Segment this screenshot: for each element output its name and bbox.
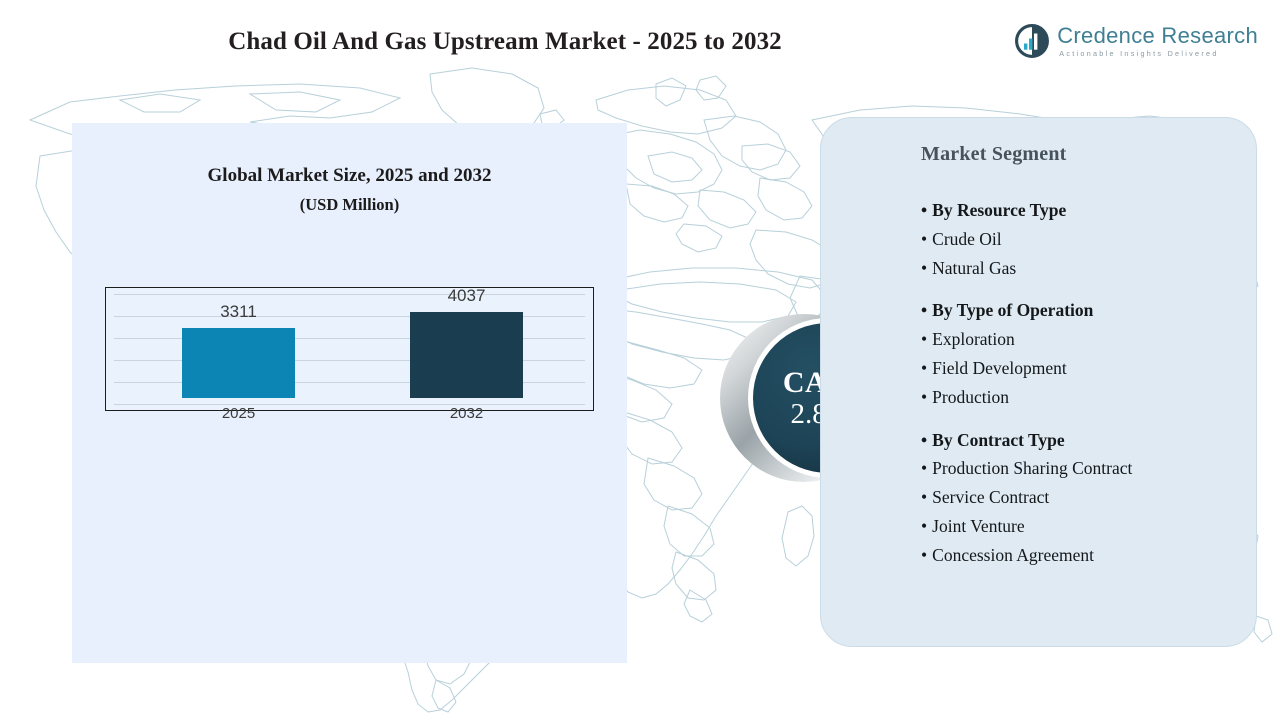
segment-item-label: Production — [932, 387, 1009, 407]
segment-item-label: Natural Gas — [932, 258, 1016, 278]
segment-item-label: Concession Agreement — [932, 545, 1094, 565]
segment-item: •Field Development — [921, 354, 1251, 383]
segment-group-heading: •By Type of Operation — [921, 296, 1251, 325]
bullet-icon: • — [921, 387, 927, 407]
bullet-icon: • — [921, 300, 927, 320]
chart-title: Global Market Size, 2025 and 2032 — [72, 165, 627, 187]
chart-subtitle: (USD Million) — [72, 195, 627, 215]
bullet-icon: • — [921, 545, 927, 565]
segment-item: •Joint Venture — [921, 512, 1251, 541]
bullet-icon: • — [921, 229, 927, 249]
bar-2025: 33112025 — [182, 328, 295, 398]
infographic-canvas: Chad Oil And Gas Upstream Market - 2025 … — [0, 0, 1280, 720]
segment-item: •Production — [921, 383, 1251, 412]
segment-group: •By Resource Type•Crude Oil•Natural Gas — [921, 196, 1251, 282]
segment-heading-label: By Contract Type — [932, 430, 1065, 450]
segment-group: •By Contract Type•Production Sharing Con… — [921, 426, 1251, 570]
bar-chart: 3311202540372032 — [105, 287, 594, 411]
bullet-icon: • — [921, 430, 927, 450]
page-title: Chad Oil And Gas Upstream Market - 2025 … — [0, 28, 1010, 56]
bullet-icon: • — [921, 200, 927, 220]
segment-item-label: Crude Oil — [932, 229, 1002, 249]
bullet-icon: • — [921, 458, 927, 478]
bullet-icon: • — [921, 258, 927, 278]
gridline — [114, 294, 585, 295]
segment-item: •Production Sharing Contract — [921, 454, 1251, 483]
segment-group-heading: •By Contract Type — [921, 426, 1251, 455]
bar-chart-circle-logo-icon — [1015, 24, 1049, 58]
segment-item: •Concession Agreement — [921, 541, 1251, 570]
segment-item: •Crude Oil — [921, 225, 1251, 254]
market-segment-panel: Market Segment •By Resource Type•Crude O… — [820, 117, 1257, 647]
bar-category-label: 2032 — [450, 405, 483, 422]
segment-item-label: Field Development — [932, 358, 1067, 378]
segment-item-label: Joint Venture — [932, 516, 1025, 536]
brand-name: Credence Research — [1057, 25, 1258, 47]
bar-value-label: 3311 — [220, 302, 257, 322]
segment-group-heading: •By Resource Type — [921, 196, 1251, 225]
market-segment-list: •By Resource Type•Crude Oil•Natural Gas•… — [921, 196, 1251, 570]
bar-2032: 40372032 — [410, 312, 523, 398]
segment-item: •Exploration — [921, 325, 1251, 354]
segment-item: •Service Contract — [921, 483, 1251, 512]
segment-item-label: Exploration — [932, 329, 1015, 349]
bullet-icon: • — [921, 516, 927, 536]
segment-item-label: Production Sharing Contract — [932, 458, 1132, 478]
gridline — [114, 404, 585, 405]
segment-group: •By Type of Operation•Exploration•Field … — [921, 296, 1251, 411]
market-size-chart-panel: Global Market Size, 2025 and 2032 (USD M… — [72, 123, 627, 663]
segment-item: •Natural Gas — [921, 254, 1251, 283]
segment-heading-label: By Resource Type — [932, 200, 1066, 220]
bullet-icon: • — [921, 487, 927, 507]
brand-text: Credence Research Actionable Insights De… — [1057, 25, 1258, 57]
bar-category-label: 2025 — [222, 405, 255, 422]
bar-value-label: 4037 — [448, 286, 486, 306]
segment-item-label: Service Contract — [932, 487, 1049, 507]
bullet-icon: • — [921, 358, 927, 378]
brand-tagline: Actionable Insights Delivered — [1059, 50, 1258, 57]
market-segment-title: Market Segment — [921, 143, 1067, 166]
bullet-icon: • — [921, 329, 927, 349]
brand-logo: Credence Research Actionable Insights De… — [1015, 24, 1258, 58]
segment-heading-label: By Type of Operation — [932, 300, 1093, 320]
